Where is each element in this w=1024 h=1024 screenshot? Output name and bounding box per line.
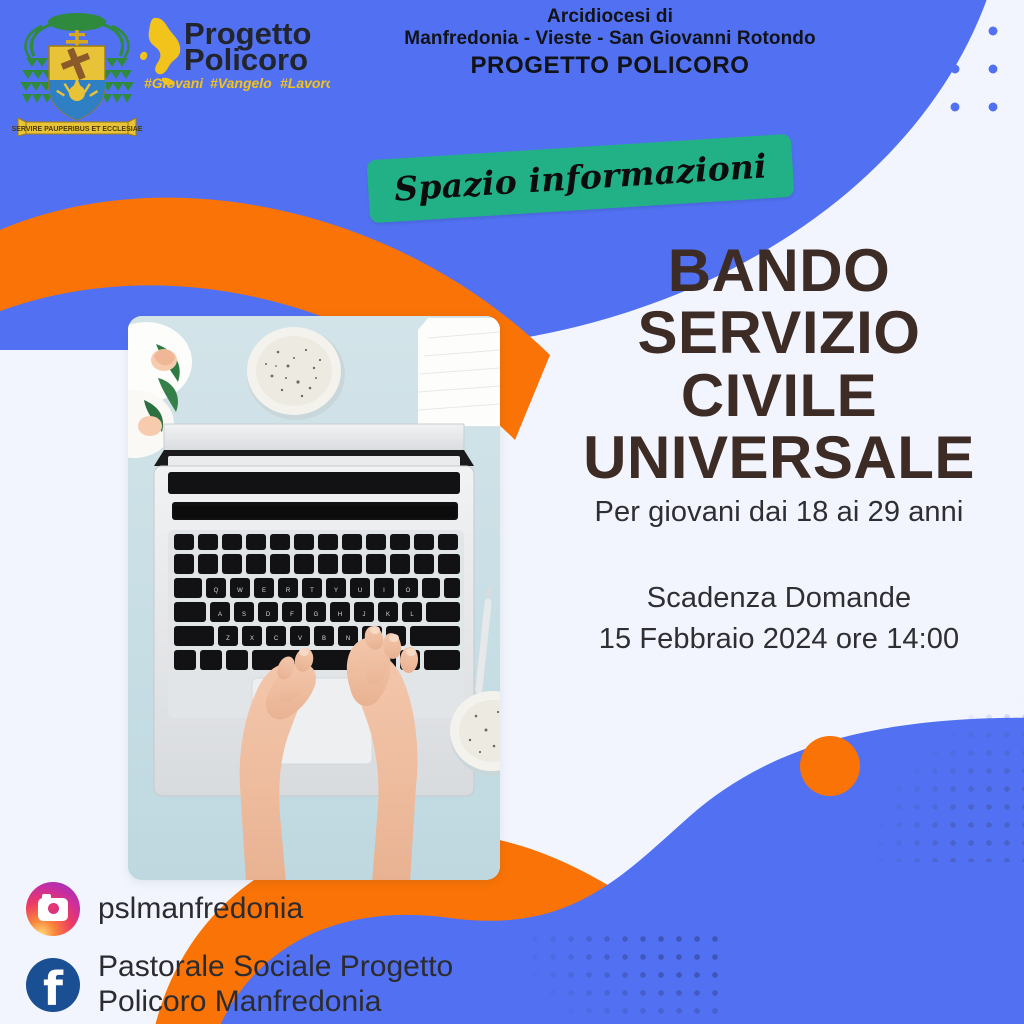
- logo-line-2: Policoro: [184, 42, 308, 77]
- svg-text:B: B: [322, 636, 326, 642]
- svg-text:D: D: [266, 612, 271, 618]
- svg-text:G: G: [314, 612, 319, 618]
- dot-grid-top-right: [894, 8, 1024, 133]
- progetto-policoro-logo: Progetto Policoro #Giovani #Vangelo #Lav…: [140, 12, 330, 92]
- svg-text:N: N: [346, 636, 350, 642]
- svg-text:Q: Q: [214, 588, 219, 594]
- facebook-handle-line-2: Policoro Manfredonia: [98, 985, 453, 1020]
- svg-text:X: X: [250, 636, 254, 642]
- dot-grid-bottom-left: [508, 930, 718, 1024]
- svg-text:K: K: [386, 612, 390, 618]
- svg-text:A: A: [218, 612, 222, 618]
- svg-text:J: J: [363, 612, 366, 618]
- svg-text:Z: Z: [226, 636, 230, 642]
- facebook-icon[interactable]: f: [26, 958, 80, 1012]
- svg-text:S: S: [242, 612, 246, 618]
- headline-line-4: UNIVERSALE: [548, 427, 1010, 489]
- diocese-line-3: PROGETTO POLICORO: [340, 52, 880, 80]
- diocese-line-1: Arcidiocesi di: [340, 6, 880, 28]
- ribbon-label: Spazio informazioni: [393, 146, 768, 208]
- blue-dot-shape: [572, 915, 598, 941]
- poster-canvas: SERVIRE PAUPERIBUS ET ECCLESIAE Progetto…: [0, 0, 1024, 1024]
- dot-grid-bottom-right: [836, 672, 1024, 862]
- headline-line-2: SERVIZIO: [548, 302, 1010, 364]
- page-title: BANDO SERVIZIO CIVILE UNIVERSALE: [548, 240, 1010, 490]
- deadline-label: Scadenza Domande: [548, 578, 1010, 619]
- laptop-hands-typing-photo: QWE RTY UIO ASD FGH JKL ZXC VBN: [128, 316, 500, 880]
- social-links: pslmanfredonia f Pastorale Sociale Proge…: [26, 882, 496, 1024]
- facebook-handle-line-1: Pastorale Sociale Progetto: [98, 950, 453, 985]
- svg-text:W: W: [237, 588, 243, 594]
- facebook-handle[interactable]: Pastorale Sociale Progetto Policoro Manf…: [98, 950, 453, 1020]
- headline-line-3: CIVILE: [548, 365, 1010, 427]
- deadline-value: 15 Febbraio 2024 ore 14:00: [548, 619, 1010, 660]
- diocese-header: Arcidiocesi di Manfredonia - Vieste - Sa…: [340, 6, 880, 80]
- spazio-informazioni-ribbon: Spazio informazioni: [366, 134, 794, 224]
- svg-text:U: U: [358, 588, 362, 594]
- instagram-row[interactable]: pslmanfredonia: [26, 882, 496, 936]
- diocese-line-2: Manfredonia - Vieste - San Giovanni Roto…: [340, 28, 880, 50]
- logo-hashtag-vangelo: #Vangelo: [210, 75, 272, 91]
- svg-text:T: T: [310, 588, 314, 594]
- svg-text:C: C: [274, 636, 279, 642]
- instagram-icon[interactable]: [26, 882, 80, 936]
- svg-text:H: H: [338, 612, 342, 618]
- age-requirement-text: Per giovani dai 18 ai 29 anni: [548, 496, 1010, 529]
- svg-text:F: F: [290, 612, 294, 618]
- coat-of-arms-icon: SERVIRE PAUPERIBUS ET ECCLESIAE: [12, 4, 142, 140]
- crest-motto: SERVIRE PAUPERIBUS ET ECCLESIAE: [12, 126, 142, 133]
- svg-text:O: O: [406, 588, 411, 594]
- logo-hashtag-giovani: #Giovani: [144, 75, 204, 91]
- headline-line-1: BANDO: [548, 240, 1010, 302]
- instagram-handle[interactable]: pslmanfredonia: [98, 892, 303, 927]
- logo-hashtag-lavoro: #Lavoro: [280, 75, 330, 91]
- svg-text:E: E: [262, 588, 266, 594]
- deadline-block: Scadenza Domande 15 Febbraio 2024 ore 14…: [548, 578, 1010, 660]
- svg-text:R: R: [286, 588, 291, 594]
- svg-text:V: V: [298, 636, 302, 642]
- orange-circle-shape: [800, 736, 860, 796]
- svg-text:Y: Y: [334, 588, 338, 594]
- facebook-row[interactable]: f Pastorale Sociale Progetto Policoro Ma…: [26, 950, 496, 1020]
